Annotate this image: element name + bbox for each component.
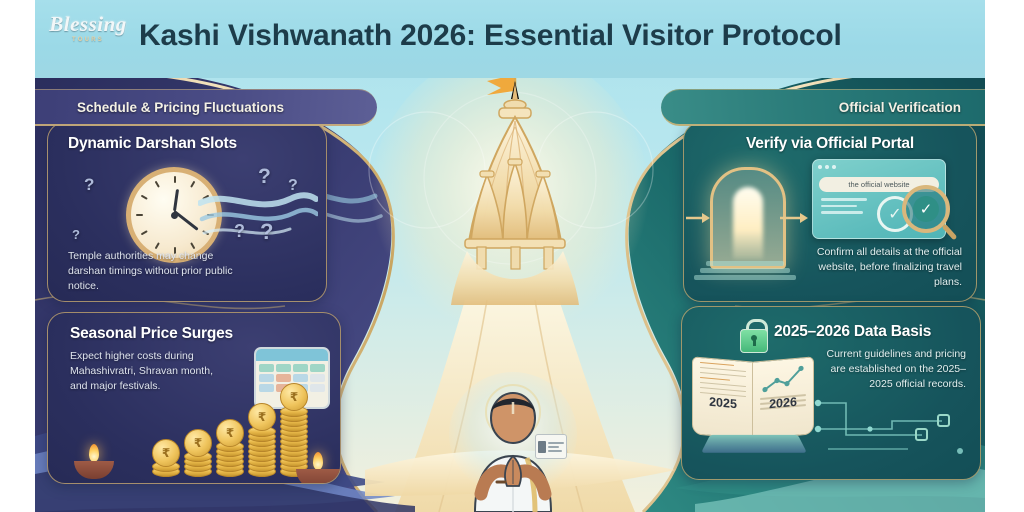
coin-stack: ₹ <box>184 431 210 477</box>
coin-stack: ₹ <box>152 447 178 477</box>
circuit-network-icon <box>812 387 972 467</box>
magnifier-check-icon: ✓ <box>902 185 950 233</box>
question-mark-icon: ? <box>84 175 94 195</box>
card-body: Expect higher costs during Mahashivratri… <box>70 349 230 395</box>
browser-dot <box>825 165 829 169</box>
badge-photo <box>538 441 546 453</box>
arrow-right-icon <box>684 205 814 231</box>
card-title: Seasonal Price Surges <box>70 325 233 343</box>
brand-logo: Blessing TOURS <box>43 6 133 50</box>
trend-line-icon <box>761 364 805 394</box>
book-page-right: 2026 <box>752 356 814 439</box>
card-title: Dynamic Darshan Slots <box>68 135 237 153</box>
priest-namaste-icon <box>423 372 603 512</box>
rupee-coin-icon: ₹ <box>280 383 308 411</box>
book-page-left: 2025 <box>692 356 754 439</box>
rupee-coin-icon: ₹ <box>184 429 212 457</box>
section-banner-official-verification: Official Verification <box>661 89 985 126</box>
card-body: Confirm all details at the official webs… <box>804 245 962 291</box>
id-badge-icon <box>535 434 567 459</box>
brand-logo-subtitle: TOURS <box>72 37 104 43</box>
poster-header: Blessing TOURS Kashi Vishwanath 2026: Es… <box>35 0 985 78</box>
rupee-coin-icon: ₹ <box>216 419 244 447</box>
coin-stack: ₹ <box>216 415 242 477</box>
question-mark-icon: ? <box>258 165 271 189</box>
question-mark-icon: ? <box>234 221 245 242</box>
temple-spire-icon <box>425 55 605 305</box>
card-verify-official-portal: Verify via Official Portal the official … <box>683 122 977 302</box>
question-mark-icon: ? <box>288 177 298 195</box>
saffron-flag-icon <box>487 75 514 95</box>
coin-stack: ₹ <box>280 373 306 477</box>
card-seasonal-price-surges: Seasonal Price Surges Expect higher cost… <box>47 312 341 484</box>
question-mark-icon: ? <box>260 219 273 245</box>
brand-logo-script: Blessing <box>49 14 127 35</box>
lock-icon <box>740 329 768 353</box>
browser-titlebar <box>813 160 945 173</box>
browser-dot <box>818 165 822 169</box>
badge-text-lines <box>548 442 564 452</box>
card-title: 2025–2026 Data Basis <box>774 323 931 341</box>
question-mark-icon: ? <box>72 227 80 242</box>
infographic-poster: Blessing TOURS Kashi Vishwanath 2026: Es… <box>0 0 1024 512</box>
book-base <box>701 435 807 453</box>
rupee-coin-icon: ₹ <box>152 439 180 467</box>
card-data-basis: 2025–2026 Data Basis Current guidelines … <box>681 306 981 480</box>
page-title: Kashi Vishwanath 2026: Essential Visitor… <box>139 8 969 64</box>
open-book-icon: 2025 2026 <box>692 359 814 439</box>
browser-content-lines <box>821 198 867 218</box>
coin-stack: ₹ <box>248 395 274 477</box>
rupee-coin-icon: ₹ <box>248 403 276 431</box>
book-year-right: 2026 <box>753 393 813 412</box>
section-banner-schedule-pricing: Schedule & Pricing Fluctuations <box>35 89 377 126</box>
artwork-canvas: Blessing TOURS Kashi Vishwanath 2026: Es… <box>35 0 985 512</box>
card-body: Temple authorities may change darshan ti… <box>68 249 236 295</box>
browser-dot <box>832 165 836 169</box>
card-body: Current guidelines and pricing are estab… <box>814 347 966 393</box>
card-title: Verify via Official Portal <box>746 135 914 153</box>
card-dynamic-darshan-slots: Dynamic Darshan Slots ? ? ? ? ? ? Te <box>47 122 327 302</box>
